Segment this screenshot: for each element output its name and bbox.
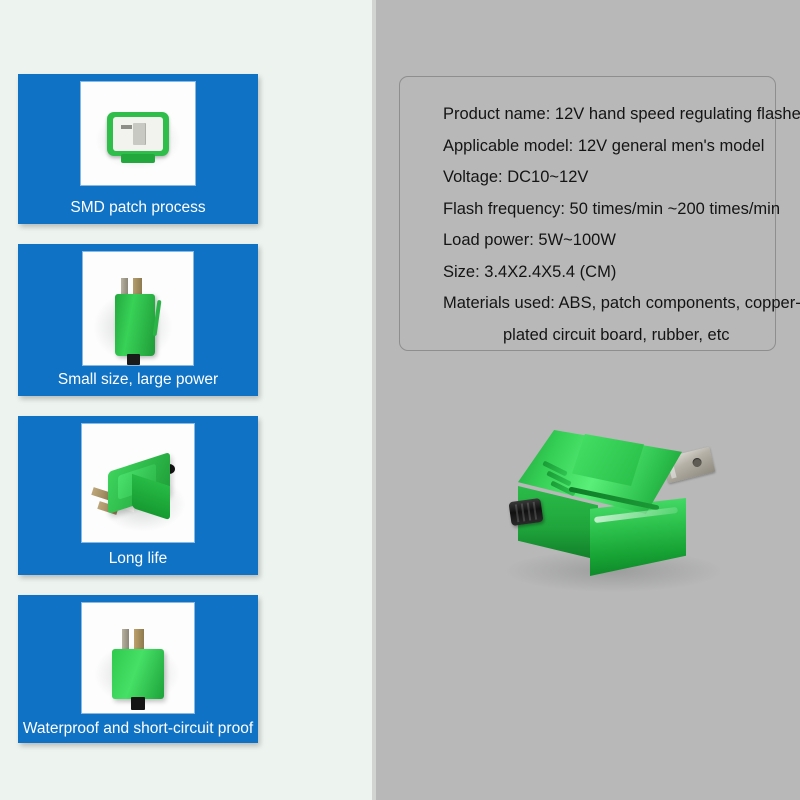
spec-line-materials-continued: plated circuit board, rubber, etc	[443, 320, 765, 352]
terminal-hole	[692, 457, 703, 468]
feature-card-waterproof-short-circuit-proof[interactable]: Waterproof and short-circuit proof	[18, 595, 258, 743]
knob-ridge	[527, 503, 531, 521]
feature-label: SMD patch process	[18, 200, 258, 216]
spec-line-materials: Materials used: ABS, patch components, c…	[443, 288, 765, 320]
smd-chip	[133, 123, 145, 145]
upright-flasher-illustration	[83, 252, 193, 365]
green-body	[112, 649, 164, 699]
feature-card-small-size-large-power[interactable]: Small size, large power	[18, 244, 258, 396]
feature-card-list: SMD patch process Small size, large powe…	[18, 74, 258, 763]
speed-adjust-knob	[127, 354, 140, 365]
open-shell-top-view-illustration	[81, 82, 195, 185]
spec-line-applicable-model: Applicable model: 12V general men's mode…	[443, 131, 765, 163]
feature-label: Long life	[18, 551, 258, 567]
pcb-trace	[121, 125, 132, 129]
green-base-tab	[121, 154, 155, 163]
front-flasher-illustration	[82, 603, 194, 713]
metal-pin	[122, 629, 129, 650]
specification-text: Product name: 12V hand speed regulating …	[443, 99, 765, 351]
knob-ridge	[515, 504, 519, 522]
feature-card-long-life[interactable]: Long life	[18, 416, 258, 575]
feature-photo-long-life	[82, 424, 194, 542]
knob-ridge	[521, 503, 525, 521]
feature-photo-small-size-large-power	[83, 252, 193, 365]
spec-line-voltage: Voltage: DC10~12V	[443, 162, 765, 194]
feature-photo-smd-patch-process	[81, 82, 195, 185]
spec-line-load-power: Load power: 5W~100W	[443, 225, 765, 257]
white-interior	[113, 117, 163, 151]
feature-label: Small size, large power	[18, 372, 258, 388]
knob-ridge	[533, 502, 537, 520]
feature-card-smd-patch-process[interactable]: SMD patch process	[18, 74, 258, 224]
feature-label: Waterproof and short-circuit proof	[18, 721, 258, 737]
spec-line-flash-frequency: Flash frequency: 50 times/min ~200 times…	[443, 194, 765, 226]
feature-panel: SMD patch process Small size, large powe…	[0, 0, 372, 800]
feature-photo-waterproof-short-circuit-proof	[82, 603, 194, 713]
speed-adjust-knob	[508, 498, 543, 526]
metal-pin	[134, 629, 144, 650]
metal-pin	[121, 278, 128, 295]
spec-line-product-name: Product name: 12V hand speed regulating …	[443, 99, 765, 131]
metal-pin	[133, 278, 142, 295]
specification-box: Product name: 12V hand speed regulating …	[399, 76, 776, 351]
angled-flasher-illustration	[82, 424, 194, 542]
green-shell-ring	[107, 112, 169, 156]
spec-line-size: Size: 3.4X2.4X5.4 (CM)	[443, 257, 765, 289]
hero-product-image	[494, 400, 734, 610]
green-body	[115, 294, 155, 356]
specification-panel: Product name: 12V hand speed regulating …	[376, 0, 800, 800]
product-infographic: SMD patch process Small size, large powe…	[0, 0, 800, 800]
speed-adjust-knob	[131, 697, 145, 710]
